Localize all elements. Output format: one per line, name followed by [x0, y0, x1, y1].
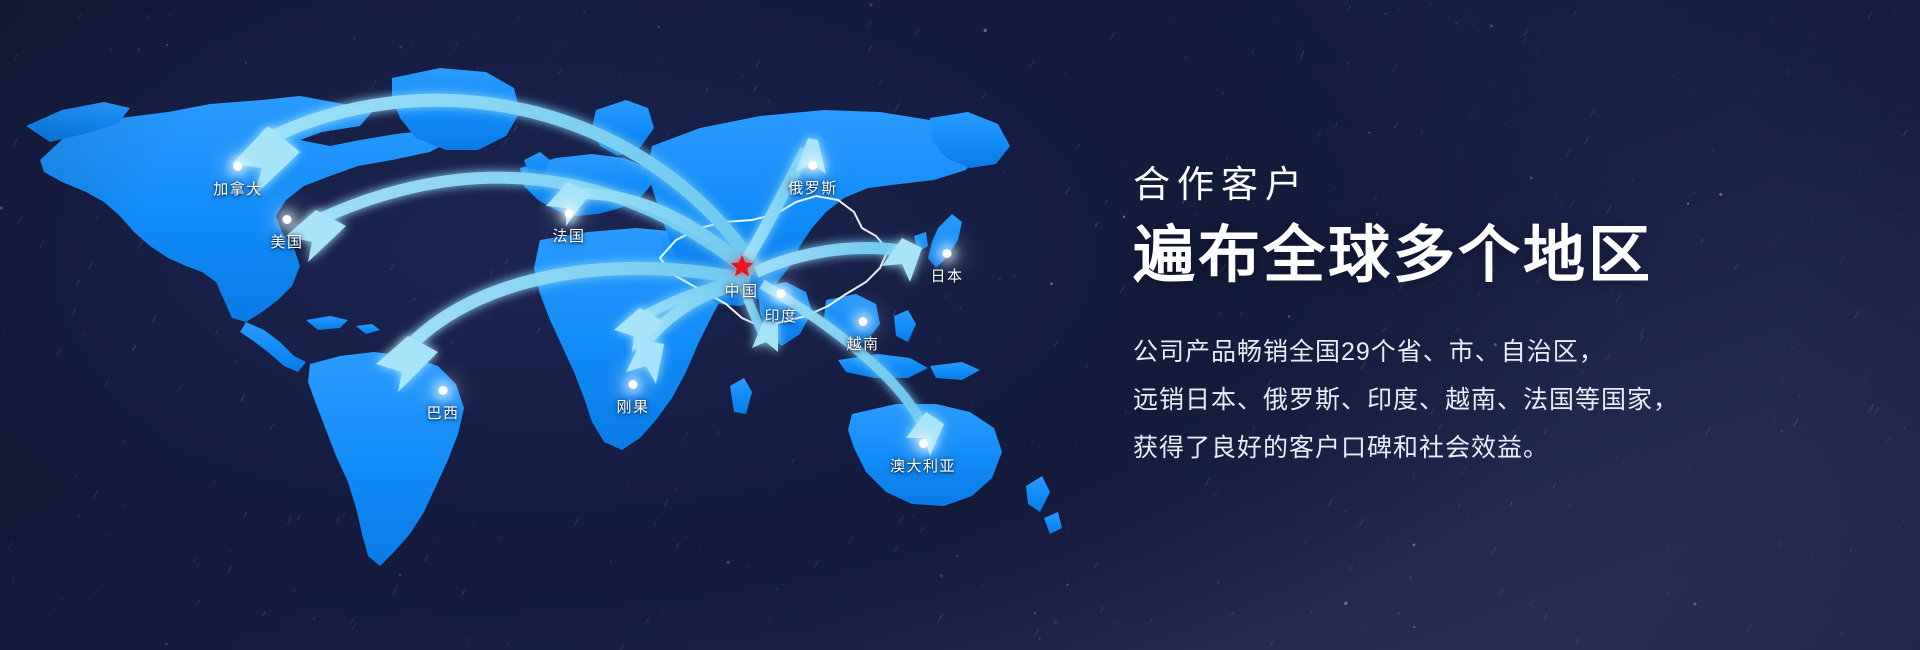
copy-block: 合作客户 遍布全球多个地区 公司产品畅销全国29个省、市、自治区， 远销日本、俄…: [1133, 166, 1833, 472]
page-title: 遍布全球多个地区: [1133, 224, 1833, 288]
map-landmasses: [26, 68, 1062, 566]
paragraph-line: 获得了良好的客户口碑和社会效益。: [1133, 424, 1833, 472]
world-map-svg: [0, 0, 1160, 650]
eyebrow-title: 合作客户: [1133, 166, 1833, 203]
global-partners-banner: 加拿大 美国 巴西 法国 刚果 俄罗斯 印度 越南: [0, 0, 1920, 650]
world-map: 加拿大 美国 巴西 法国 刚果 俄罗斯 印度 越南: [0, 0, 1160, 650]
paragraph-line: 公司产品畅销全国29个省、市、自治区，: [1133, 328, 1833, 376]
paragraph-line: 远销日本、俄罗斯、印度、越南、法国等国家，: [1133, 376, 1833, 424]
china-origin-star-icon: [730, 254, 754, 278]
description-paragraph: 公司产品畅销全国29个省、市、自治区， 远销日本、俄罗斯、印度、越南、法国等国家…: [1133, 328, 1833, 472]
